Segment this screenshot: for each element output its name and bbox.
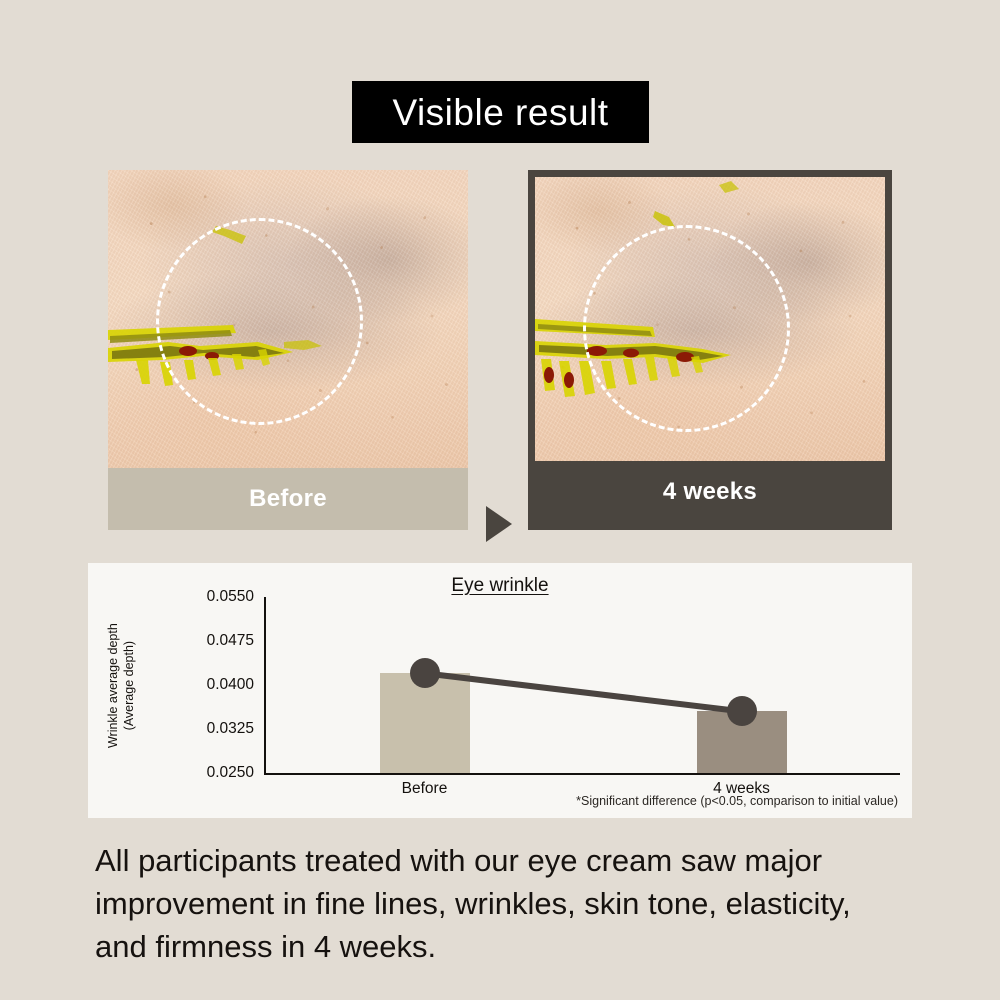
chart-plot-area: Before4 weeks [264, 597, 900, 775]
dashed-circle-icon-before [156, 218, 363, 425]
chart-y-ticks: 0.05500.04750.04000.03250.0250 [184, 597, 262, 775]
after-photo-frame: 4 weeks [528, 170, 892, 530]
chart-y-axis-label: Wrinkle average depth (Average depth) [104, 601, 138, 771]
title-banner: Visible result [352, 81, 649, 143]
page-title: Visible result [392, 94, 608, 131]
after-photo-card: 4 weeks [528, 170, 892, 530]
y-axis-label-line1: Wrinkle average depth [105, 624, 119, 749]
chart-y-tick: 0.0400 [207, 676, 254, 694]
after-photo-caption: 4 weeks [535, 461, 885, 523]
chart-trend-line [266, 597, 900, 773]
chart-footnote: *Significant difference (p<0.05, compari… [576, 794, 898, 808]
y-axis-label-line2: (Average depth) [121, 641, 135, 730]
before-photo-caption: Before [108, 468, 468, 530]
chart-y-tick: 0.0550 [207, 588, 254, 606]
chart-y-tick: 0.0250 [207, 764, 254, 782]
dashed-circle-icon-after [583, 225, 790, 432]
chart-y-tick: 0.0325 [207, 720, 254, 738]
chart-x-tick: Before [402, 780, 448, 798]
chart-y-tick: 0.0475 [207, 632, 254, 650]
chart-plot-wrap: 0.05500.04750.04000.03250.0250 Before4 w… [184, 597, 900, 775]
after-photo-inner: 4 weeks [535, 177, 885, 523]
chart-data-marker [727, 696, 757, 726]
before-photo-inner: Before [108, 170, 468, 530]
before-caption-label: Before [249, 485, 327, 513]
chart-data-marker [410, 658, 440, 688]
after-caption-label: 4 weeks [663, 478, 757, 506]
play-triangle-right-icon [486, 506, 512, 542]
before-after-comparison: Before [0, 170, 1000, 530]
before-photo-card: Before [108, 170, 468, 530]
before-photo-frame: Before [108, 170, 468, 530]
summary-paragraph: All participants treated with our eye cr… [95, 840, 895, 968]
eye-wrinkle-chart-panel: Eye wrinkle Wrinkle average depth (Avera… [88, 563, 912, 818]
